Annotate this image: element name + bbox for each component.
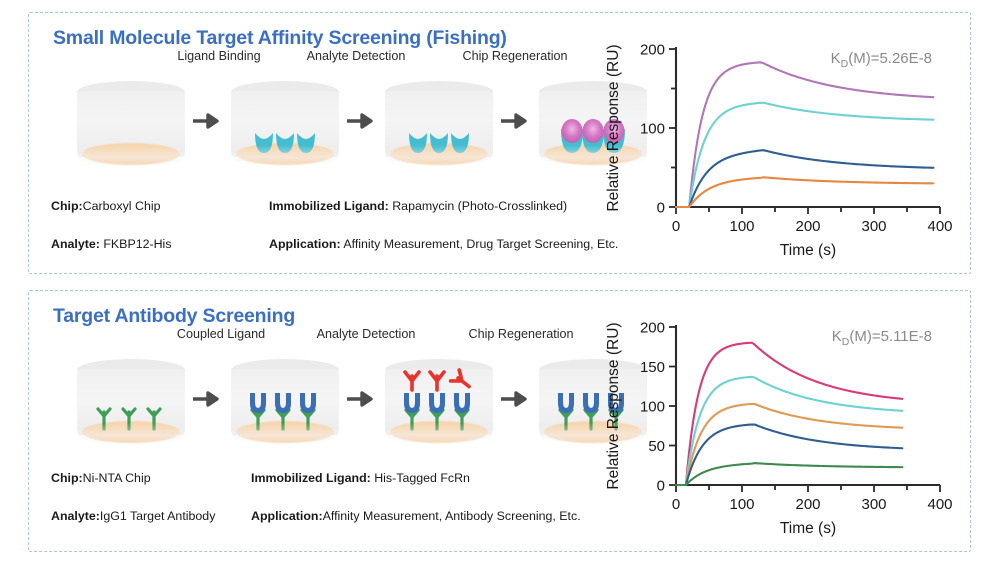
svg-text:0: 0 xyxy=(657,478,665,495)
info-row: Analyte: FKBP12-His Application: Affinit… xyxy=(51,237,641,265)
sensorgram-svg: 0501001502000100200300400Time (s)Relativ… xyxy=(602,313,954,535)
svg-text:400: 400 xyxy=(927,218,952,235)
sensorgram-chart-2: 0501001502000100200300400Time (s)Relativ… xyxy=(602,313,954,535)
info-chip: Chip:Carboxyl Chip xyxy=(51,199,160,213)
chip-empty xyxy=(77,81,185,169)
info-label: Chip: xyxy=(51,471,83,485)
chip-coupled-ligand xyxy=(231,359,339,447)
step-label-3: Chip Regeneration xyxy=(462,49,567,63)
svg-text:150: 150 xyxy=(640,359,665,376)
panel-small-molecule-screening: Small Molecule Target Affinity Screening… xyxy=(28,12,971,274)
arrow-3 xyxy=(499,389,533,409)
step-label-1: Ligand Binding xyxy=(177,49,260,63)
svg-text:200: 200 xyxy=(795,218,820,235)
info-label: Immobilized Ligand: xyxy=(269,199,389,213)
svg-text:100: 100 xyxy=(640,399,665,416)
antibody-complex-icon xyxy=(385,359,493,447)
panel-title: Target Antibody Screening xyxy=(53,305,295,328)
panel-info: Chip:Carboxyl Chip Immobilized Ligand: R… xyxy=(51,199,641,265)
info-row: Chip:Ni-NTA Chip Immobilized Ligand: His… xyxy=(51,471,641,499)
info-value: Affinity Measurement, Drug Target Screen… xyxy=(343,237,618,251)
svg-text:100: 100 xyxy=(729,218,754,235)
step-label-2: Analyte Detection xyxy=(307,49,406,63)
info-value: IgG1 Target Antibody xyxy=(100,509,216,523)
svg-text:KD(M)=5.11E-8: KD(M)=5.11E-8 xyxy=(832,328,932,348)
curve-curve-4 xyxy=(676,424,902,485)
svg-text:0: 0 xyxy=(657,200,665,217)
chip-ligand-bound xyxy=(231,81,339,169)
curve-curve-3 xyxy=(676,150,933,207)
info-value: Ni-NTA Chip xyxy=(83,471,151,485)
chips-row xyxy=(39,353,619,463)
chip-antibody-bound xyxy=(385,359,493,447)
curve-curve-5 xyxy=(676,463,902,485)
info-row: Chip:Carboxyl Chip Immobilized Ligand: R… xyxy=(51,199,641,227)
info-application: Application: Affinity Measurement, Drug … xyxy=(269,237,618,251)
figure-root: Small Molecule Target Affinity Screening… xyxy=(0,0,999,562)
arrow-2 xyxy=(345,389,379,409)
arrow-1 xyxy=(191,111,225,131)
info-label: Analyte: xyxy=(51,237,100,251)
info-row: Analyte:IgG1 Target Antibody Application… xyxy=(51,509,641,537)
panel-antibody-screening: Target Antibody Screening Coupled Ligand… xyxy=(28,290,971,552)
svg-text:50: 50 xyxy=(648,438,665,455)
svg-text:400: 400 xyxy=(927,496,952,513)
receptor-on-linker-icon xyxy=(231,359,339,447)
ligand-cups-icon xyxy=(385,81,493,169)
info-value: His-Tagged FcRn xyxy=(374,471,470,485)
curve-curve-3 xyxy=(676,404,902,485)
info-value: Rapamycin (Photo-Crosslinked) xyxy=(392,199,567,213)
panel-title: Small Molecule Target Affinity Screening… xyxy=(53,27,507,50)
chips-row xyxy=(39,75,619,185)
info-application: Application:Affinity Measurement, Antibo… xyxy=(251,509,581,523)
step-labels: Ligand Binding Analyte Detection Chip Re… xyxy=(39,49,619,71)
info-value: FKBP12-His xyxy=(103,237,171,251)
info-chip: Chip:Ni-NTA Chip xyxy=(51,471,151,485)
step-label-3: Chip Regeneration xyxy=(468,327,573,341)
chip-sensor-base xyxy=(82,143,180,165)
info-immobilized-ligand: Immobilized Ligand: Rapamycin (Photo-Cro… xyxy=(269,199,567,213)
svg-text:Relative Response (RU): Relative Response (RU) xyxy=(605,44,622,211)
info-label: Application: xyxy=(251,509,323,523)
workflow-diagram: Ligand Binding Analyte Detection Chip Re… xyxy=(39,49,619,199)
info-label: Chip: xyxy=(51,199,83,213)
info-immobilized-ligand: Immobilized Ligand: His-Tagged FcRn xyxy=(251,471,470,485)
sensorgram-svg: 01002000100200300400Time (s)Relative Res… xyxy=(602,35,954,257)
svg-text:100: 100 xyxy=(729,496,754,513)
svg-text:Time (s): Time (s) xyxy=(780,242,836,259)
sensorgram-chart-1: 01002000100200300400Time (s)Relative Res… xyxy=(602,35,954,257)
arrow-3 xyxy=(499,111,533,131)
svg-text:300: 300 xyxy=(861,218,886,235)
ligand-cups-icon xyxy=(231,81,339,169)
arrow-2 xyxy=(345,111,379,131)
info-analyte: Analyte:IgG1 Target Antibody xyxy=(51,509,215,523)
panel-info: Chip:Ni-NTA Chip Immobilized Ligand: His… xyxy=(51,471,641,537)
step-labels: Coupled Ligand Analyte Detection Chip Re… xyxy=(39,327,619,349)
svg-text:200: 200 xyxy=(795,496,820,513)
info-value: Carboxyl Chip xyxy=(83,199,161,213)
curve-curve-2 xyxy=(676,103,933,207)
svg-text:0: 0 xyxy=(672,218,680,235)
svg-text:300: 300 xyxy=(861,496,886,513)
svg-text:KD(M)=5.26E-8: KD(M)=5.26E-8 xyxy=(831,50,932,70)
svg-text:Relative Response (RU): Relative Response (RU) xyxy=(605,322,622,489)
svg-text:Time (s): Time (s) xyxy=(780,520,836,537)
info-analyte: Analyte: FKBP12-His xyxy=(51,237,172,251)
info-label: Application: xyxy=(269,237,341,251)
svg-text:200: 200 xyxy=(640,42,665,59)
svg-text:100: 100 xyxy=(640,121,665,138)
svg-text:0: 0 xyxy=(672,496,680,513)
step-label-2: Analyte Detection xyxy=(317,327,416,341)
svg-text:200: 200 xyxy=(640,320,665,337)
step-label-1: Coupled Ligand xyxy=(177,327,265,341)
curve-curve-4 xyxy=(676,177,933,207)
info-label: Immobilized Ligand: xyxy=(251,471,371,485)
info-label: Analyte: xyxy=(51,509,100,523)
arrow-1 xyxy=(191,389,225,409)
nta-linker-icon xyxy=(77,359,185,447)
chip-linkers xyxy=(77,359,185,447)
chip-analyte-detection xyxy=(385,81,493,169)
info-value: Affinity Measurement, Antibody Screening… xyxy=(323,509,581,523)
workflow-diagram: Coupled Ligand Analyte Detection Chip Re… xyxy=(39,327,619,477)
